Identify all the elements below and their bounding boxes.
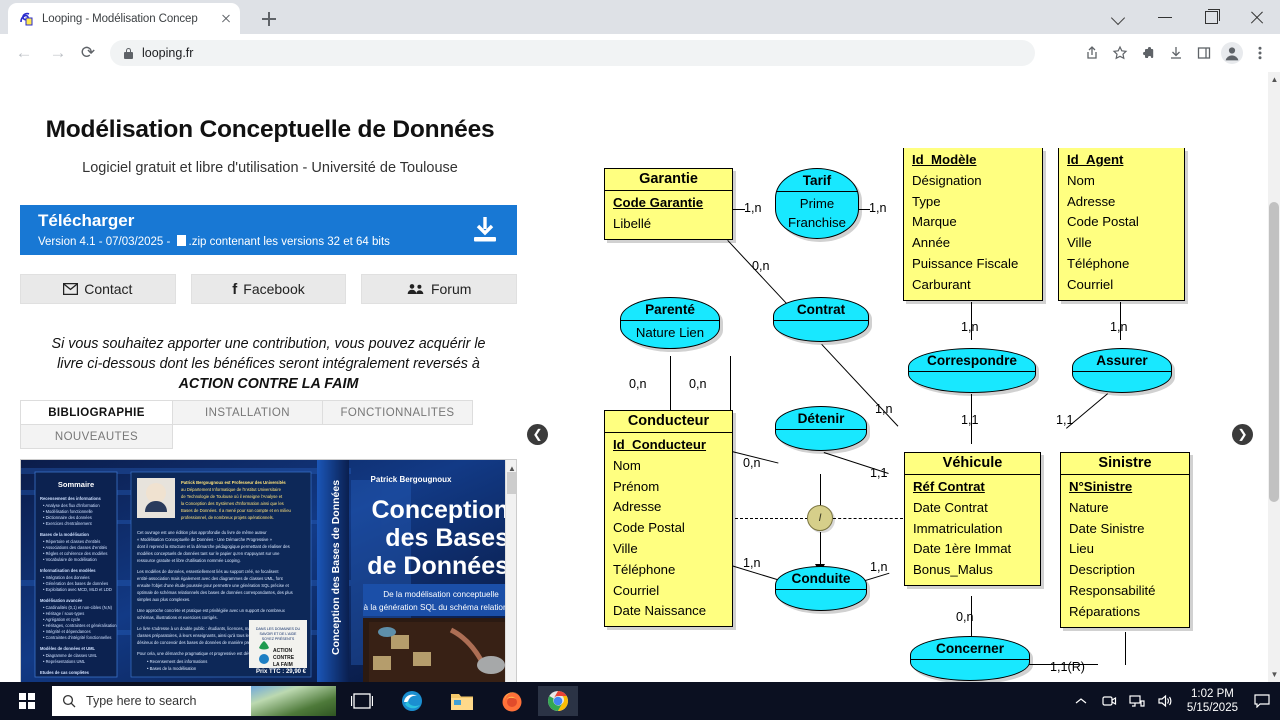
entity-conducteur-attributes: Id_Conducteur Nom Prénom Adresse Code Po… (605, 433, 732, 626)
extensions-puzzle-icon[interactable] (1134, 40, 1162, 66)
chrome-icon[interactable] (538, 686, 578, 716)
contribution-text: Si vous souhaitez apporter une contribut… (20, 334, 517, 394)
contact-button-label: Contact (84, 281, 132, 297)
tab-nouveautes[interactable]: NOUVEAUTES (20, 424, 173, 449)
forward-button[interactable]: → (46, 41, 70, 65)
attribute: Code Postal (613, 518, 724, 539)
association-contrat[interactable]: Contrat (773, 297, 869, 342)
entity-sinistre-attributes: N°Sinistre Nature Date Sinistre Lieu Des… (1061, 475, 1189, 627)
firefox-icon[interactable] (492, 686, 532, 716)
svg-text:Bases de Données. Il a mené po: Bases de Données. Il a mené pour son com… (181, 508, 292, 513)
association-detenir-title: Détenir (776, 407, 866, 430)
attribute: Date Contrat (913, 498, 1032, 519)
attribute: Date Naissance (613, 601, 724, 622)
svg-text:• Modélisation fonctionnelle: • Modélisation fonctionnelle (43, 509, 93, 514)
download-details-post: .zip contenant les versions 32 et 64 bit… (189, 236, 390, 248)
attribute: Téléphone (1067, 254, 1176, 275)
svg-text:Modèles de données et UML: Modèles de données et UML (40, 646, 96, 651)
association-parente[interactable]: Parenté Nature Lien (620, 297, 720, 349)
association-correspondre-attributes (909, 372, 1035, 392)
svg-text:DANS LES DOMAINES DU: DANS LES DOMAINES DU (256, 627, 301, 631)
association-assurer-title: Assurer (1073, 349, 1171, 372)
svg-text:• Agrégation et cycle: • Agrégation et cycle (43, 617, 81, 622)
entity-garantie-attributes: Code Garantie Libellé (605, 191, 732, 239)
profile-avatar-icon[interactable] (1218, 40, 1246, 66)
association-correspondre-title: Correspondre (909, 349, 1035, 372)
association-concerner-attributes (911, 660, 1029, 680)
side-panel-icon[interactable] (1190, 40, 1218, 66)
address-bar[interactable]: looping.fr (110, 40, 1035, 66)
association-detenir-attributes (776, 430, 866, 450)
cardinality-conducteur-detenir: 0,n (743, 456, 761, 470)
search-icon (62, 694, 76, 708)
svg-text:la Conception des Systèmes d'I: la Conception des Systèmes d'Information… (181, 501, 284, 506)
association-parente-title: Parenté (621, 298, 719, 321)
svg-text:De la modélisation conceptuell: De la modélisation conceptuelle (383, 590, 499, 599)
attribute: Réparations (1069, 602, 1181, 623)
svg-text:• Intégration des données: • Intégration des données (43, 575, 90, 580)
svg-text:simples aux plus complexes.: simples aux plus complexes. (137, 597, 190, 602)
download-banner[interactable]: Télécharger Version 4.1 - 07/03/2025 - .… (20, 205, 517, 255)
association-conduite[interactable]: Conduite (775, 566, 867, 611)
browser-tab[interactable]: Looping - Modélisation Concep (8, 3, 240, 34)
browser-toolbar: ← → ⟳ looping.fr (0, 34, 1280, 72)
svg-text:Conception: Conception (372, 496, 510, 524)
attribute: Libellé (613, 214, 724, 235)
svg-text:• Génération des bases de donn: • Génération des bases de données (43, 581, 108, 586)
svg-text:LA FAIM: LA FAIM (273, 662, 293, 668)
svg-text:professionnel, de nombreux pro: professionnel, de nombreux projets opéra… (181, 515, 274, 520)
site-logo: o i o (0, 72, 540, 112)
facebook-button[interactable]: f Facebook (191, 274, 347, 304)
attribute: Marque (912, 212, 1034, 233)
attribute: Type (912, 192, 1034, 213)
entity-vehicule-title: Véhicule (905, 453, 1040, 475)
association-detenir[interactable]: Détenir (775, 406, 867, 451)
svg-text:• Exercices d'entraînement: • Exercices d'entraînement (43, 521, 92, 526)
cardinality-detenir-vehicule: 1,1 (870, 466, 888, 480)
association-contrat-attributes (774, 321, 868, 341)
inheritance-dashed-right (833, 518, 903, 519)
entity-sinistre[interactable]: Sinistre N°Sinistre Nature Date Sinistre… (1060, 452, 1190, 628)
svg-text:Etudes de cas complètes: Etudes de cas complètes (40, 670, 90, 675)
cardinality-tarif-modele: 1,n (869, 201, 887, 215)
entity-sinistre-title: Sinistre (1061, 453, 1189, 475)
cardinality-concerner-sinistre: 1,1(R) (1050, 660, 1085, 674)
attribute: Courriel (613, 581, 724, 602)
entity-modele[interactable]: Id_Modèle Désignation Type Marque Année … (903, 148, 1043, 301)
svg-text:• Contraintes d'intégrité fonc: • Contraintes d'intégrité fonctionnelles (43, 635, 111, 640)
svg-text:SOYEZ PRÉSENTS: SOYEZ PRÉSENTS (262, 636, 295, 641)
attribute-key: Id_Agent (1067, 150, 1176, 171)
social-button-row: Contact f Facebook Forum (20, 274, 517, 304)
download-details: Version 4.1 - 07/03/2025 - .zip contenan… (38, 235, 390, 248)
page-scrollbar-thumb[interactable] (1269, 202, 1279, 502)
inheritance-symbol: I (807, 505, 833, 531)
search-illustration (251, 686, 336, 716)
page-content: o i o Modélisation Conceptuelle de Donné… (0, 72, 1280, 682)
browser-chrome: Looping - Modélisation Concep ← → ⟳ loop… (0, 0, 1280, 72)
attribute: Ville (613, 539, 724, 560)
attribute-key: Id_Conducteur (613, 435, 724, 456)
maximize-icon[interactable] (1188, 0, 1234, 34)
attribute: Code Postal (1067, 212, 1176, 233)
svg-text:• Exploitation avec MCD, MLD e: • Exploitation avec MCD, MLD et LDD (43, 587, 112, 592)
tab-title: Looping - Modélisation Concep (42, 13, 218, 25)
cardinality-agent-assurer: 1,n (1110, 320, 1128, 334)
entity-garantie-title: Garantie (605, 169, 732, 191)
cardinality-correspondre-vehicule: 1,1 (961, 413, 979, 427)
reload-button[interactable]: ⟳ (76, 41, 100, 65)
entity-modele-attributes: Id_Modèle Désignation Type Marque Année … (904, 148, 1042, 300)
svg-text:schémas, illustrations et exer: schémas, illustrations et exercices corr… (137, 615, 218, 620)
chrome-menu-icon[interactable] (1246, 40, 1274, 66)
attribute: Carburant (912, 275, 1034, 296)
svg-text:optimale de schémas relationne: optimale de schémas relationnels des bas… (137, 590, 293, 595)
edge-icon[interactable] (392, 686, 432, 716)
attribute: Nom (1067, 171, 1176, 192)
download-label: Télécharger (38, 211, 134, 231)
page-scrollbar[interactable]: ▲ ▼ (1268, 72, 1280, 682)
svg-text:CONTRE: CONTRE (273, 655, 295, 661)
svg-text:• Vocabulaire de modélisation: • Vocabulaire de modélisation (43, 557, 97, 562)
bookmark-star-icon[interactable] (1106, 40, 1134, 66)
contribution-charity: ACTION CONTRE LA FAIM (20, 374, 517, 394)
toolbar-icons (1078, 40, 1274, 66)
browser-titlebar: Looping - Modélisation Concep (0, 0, 1280, 34)
forum-button[interactable]: Forum (361, 274, 517, 304)
attribute-key: Code Garantie (613, 193, 724, 214)
back-arrow-icon: ← (12, 41, 36, 65)
svg-text:• Associations des classes d'e: • Associations des classes d'entités (43, 545, 107, 550)
cardinality-assurer-vehicule: 1,1 (1056, 413, 1074, 427)
association-conduite-title: Conduite (776, 567, 866, 590)
forum-button-label: Forum (431, 281, 471, 297)
cardinality-contrat-vehicule: 1,n (875, 402, 893, 416)
address-bar-url: looping.fr (142, 46, 193, 60)
association-assurer-attributes (1073, 372, 1171, 392)
contribution-line-1: Si vous souhaitez apporter une contribut… (20, 334, 517, 354)
facebook-button-label: Facebook (243, 281, 304, 297)
cardinality-parente-conducteur-b: 0,n (689, 377, 707, 391)
facebook-f-icon: f (232, 281, 237, 298)
carousel-prev-button[interactable]: ❮ (527, 424, 548, 445)
association-contrat-title: Contrat (774, 298, 868, 321)
association-parente-attributes: Nature Lien (621, 321, 719, 348)
attribute: Description (1069, 560, 1181, 581)
attribute: Prime (782, 194, 852, 213)
svg-text:des Bases: des Bases (385, 524, 509, 552)
svg-text:• Bases de la modélisation: • Bases de la modélisation (147, 666, 197, 671)
svg-text:entité-association mais égalem: entité-association mais également avec d… (137, 576, 284, 581)
clock-date: 5/15/2025 (1187, 701, 1238, 715)
svg-text:Prix TTC : 29,90 €: Prix TTC : 29,90 € (256, 669, 307, 675)
windows-taskbar: Type here to search (0, 682, 1280, 720)
svg-text:de Données: de Données (367, 552, 509, 580)
download-icon (469, 215, 501, 245)
contribution-line-2: livre ci-dessous dont les bénéfices sero… (20, 354, 517, 374)
page-subtitle: Logiciel gratuit et libre d'utilisation … (0, 160, 540, 176)
entity-conducteur-title: Conducteur (605, 411, 732, 433)
svg-text:• Analyse des flux d'informati: • Analyse des flux d'information (43, 503, 100, 508)
svg-text:de Technologie de Toulouse où: de Technologie de Toulouse où il enseign… (181, 494, 283, 499)
camera-recording-icon[interactable] (1095, 682, 1123, 720)
cardinality-garantie-tarif: 1,n (744, 201, 762, 215)
svg-text:• Règles et cohérence des modè: • Règles et cohérence des modèles (43, 551, 107, 556)
attribute-key: Réf Contrat (913, 477, 1032, 498)
entity-garantie[interactable]: Garantie Code Garantie Libellé (604, 168, 733, 240)
svg-text:• Dictionnaire des données: • Dictionnaire des données (43, 515, 92, 520)
attribute: Date 1ère Immat (913, 539, 1032, 560)
task-view-icon[interactable] (342, 686, 382, 716)
cardinality-conducteur-conduite: 1,n (743, 556, 761, 570)
attribute: Nature Lien (627, 323, 713, 342)
contact-button[interactable]: Contact (20, 274, 176, 304)
close-window-icon[interactable] (1234, 0, 1280, 34)
content-tabs: BIBLIOGRAPHIE INSTALLATION FONCTIONNALIT… (20, 400, 517, 449)
search-input[interactable]: Type here to search (52, 686, 336, 716)
reload-icon: ⟳ (76, 41, 100, 65)
association-concerner[interactable]: Concerner (910, 636, 1030, 681)
svg-text:à la génération SQL du schéma: à la génération SQL du schéma relationne… (364, 603, 517, 612)
close-icon[interactable] (218, 11, 234, 27)
attribute: Nom (613, 456, 724, 477)
svg-text:Recensement des informations: Recensement des informations (40, 496, 101, 501)
lock-icon (124, 48, 133, 59)
scroll-up-icon[interactable]: ▲ (1271, 75, 1279, 84)
notifications-icon[interactable] (1246, 682, 1280, 720)
new-tab-button[interactable] (255, 7, 283, 31)
tab-bibliographie[interactable]: BIBLIOGRAPHIE (20, 400, 173, 425)
association-concerner-title: Concerner (911, 637, 1029, 660)
download-details-pre: Version 4.1 - 07/03/2025 - (38, 236, 174, 248)
svg-text:Patrick Bergougnoux: Patrick Bergougnoux (371, 475, 452, 484)
page-title: Modélisation Conceptuelle de Données (0, 116, 540, 144)
association-tarif-attributes: Prime Franchise (776, 192, 858, 238)
minimize-icon[interactable] (1142, 0, 1188, 34)
people-group-icon (407, 283, 425, 295)
svg-text:Sommaire: Sommaire (58, 480, 94, 489)
show-hidden-icons-icon[interactable] (1067, 682, 1095, 720)
tab-installation[interactable]: INSTALLATION (172, 400, 323, 425)
forward-arrow-icon: → (46, 41, 70, 65)
attribute: Bonus_Malus (913, 560, 1032, 581)
network-icon[interactable] (1123, 682, 1151, 720)
association-assurer[interactable]: Assurer (1072, 348, 1172, 393)
volume-icon[interactable] (1151, 682, 1179, 720)
system-tray: 1:02 PM 5/15/2025 (1067, 682, 1280, 720)
attribute: Responsabilité (1069, 581, 1181, 602)
connector-sinistre-down (1125, 632, 1126, 665)
svg-text:Conception des Bases de Donnée: Conception des Bases de Données (330, 480, 342, 655)
svg-text:Informatisation des modèles: Informatisation des modèles (40, 568, 96, 573)
mcd-diagram: I Garantie Code Garantie Libellé Id_Modè… (560, 72, 1270, 682)
attribute: Franchise (782, 213, 852, 232)
cardinality-conduite-vehicule: 1,n (870, 560, 888, 574)
windows-start-icon[interactable] (8, 687, 46, 715)
attribute: Désignation (912, 171, 1034, 192)
attribute: Prénom (613, 477, 724, 498)
svg-text:Modélisation avancée: Modélisation avancée (40, 598, 83, 603)
svg-text:ACTION: ACTION (273, 648, 293, 654)
attribute: Courriel (1067, 275, 1176, 296)
attribute: Puissance Fiscale (912, 254, 1034, 275)
entity-agent[interactable]: Id_Agent Nom Adresse Code Postal Ville T… (1058, 148, 1185, 301)
svg-text:• Recensement des informations: • Recensement des informations (147, 659, 207, 664)
association-conduite-attributes (776, 590, 866, 610)
svg-text:• Cardinalités (0,1) et non-ci: • Cardinalités (0,1) et non-cibles (N,N) (43, 605, 113, 610)
attribute-key: Id_Modèle (912, 150, 1034, 171)
svg-text:Patrick Bergougnoux est Profes: Patrick Bergougnoux est Professeur des U… (181, 480, 286, 485)
association-tarif[interactable]: Tarif Prime Franchise (775, 168, 859, 239)
chevron-down-icon[interactable] (1096, 0, 1142, 34)
svg-text:SAVOIR ET DE L'AIDE: SAVOIR ET DE L'AIDE (260, 632, 298, 636)
book-carousel[interactable]: Sommaire Recensement des informations • … (20, 459, 517, 682)
entity-agent-attributes: Id_Agent Nom Adresse Code Postal Ville T… (1059, 148, 1184, 300)
svg-text:• Diagramme de classes UML: • Diagramme de classes UML (43, 653, 98, 658)
cardinality-vehicule-concerner: 0,n (956, 610, 974, 624)
svg-text:ressource gratuite et libre d': ressource gratuite et libre d'utilisatio… (137, 558, 241, 563)
cardinality-parente-conducteur-a: 0,n (629, 377, 647, 391)
svg-text:ensuite l'objet d'une étude po: ensuite l'objet d'une étude poussée pour… (137, 583, 290, 588)
zip-file-icon (177, 235, 186, 246)
svg-text:• Intégrité et dépendances: • Intégrité et dépendances (43, 629, 91, 634)
attribute-key: N°Sinistre (1069, 477, 1181, 498)
clock-time: 1:02 PM (1187, 687, 1238, 701)
svg-text:Bases de la modélisation: Bases de la modélisation (40, 532, 89, 537)
association-correspondre[interactable]: Correspondre (908, 348, 1036, 393)
attribute: Date Sinistre (1069, 519, 1181, 540)
envelope-icon (63, 283, 78, 295)
svg-text:au Département Informatique de: au Département Informatique de l'Institu… (181, 487, 282, 492)
entity-vehicule[interactable]: Véhicule Réf Contrat Date Contrat Immatr… (904, 452, 1041, 586)
attribute: Téléphone (613, 560, 724, 581)
attribute: Immatriculation (913, 519, 1032, 540)
back-button[interactable]: ← (12, 41, 36, 65)
book-cover-image: Sommaire Recensement des informations • … (21, 460, 517, 682)
svg-text:• Héritage / sous-types: • Héritage / sous-types (43, 611, 84, 616)
book-scrollbar-thumb[interactable] (507, 472, 516, 494)
attribute: Adresse (613, 497, 724, 518)
svg-text:modèles conceptuels de données: modèles conceptuels de données tant sur … (137, 551, 280, 556)
attribute: Lieu (1069, 539, 1181, 560)
svg-text:Une approche concrète et prati: Une approche concrète et pratique est pr… (137, 608, 286, 613)
svg-text:Cet ouvrage est une édition pl: Cet ouvrage est une édition plus approfo… (137, 530, 267, 535)
content-tabstrip: BIBLIOGRAPHIE INSTALLATION FONCTIONNALIT… (20, 400, 517, 449)
site-left-column: o i o Modélisation Conceptuelle de Donné… (0, 72, 540, 682)
svg-text:• Héritages, contraintes et gé: • Héritages, contraintes et généralisati… (43, 623, 117, 628)
svg-text:Les modèles de données, essent: Les modèles de données, essentiellement … (137, 569, 279, 574)
svg-text:• Représentations UML: • Représentations UML (43, 659, 86, 664)
cardinality-garantie-contrat: 0,n (752, 259, 770, 273)
attribute: Nature (1069, 498, 1181, 519)
scroll-down-icon[interactable]: ▼ (1271, 670, 1279, 679)
entity-conducteur[interactable]: Conducteur Id_Conducteur Nom Prénom Adre… (604, 410, 733, 627)
tab-fonctionnalites[interactable]: FONCTIONNALITES (322, 400, 473, 425)
attribute: Ville (1067, 233, 1176, 254)
looping-favicon-icon (18, 11, 34, 27)
svg-text:dont il reprend la structure e: dont il reprend la structure et la démar… (137, 544, 290, 549)
share-icon[interactable] (1078, 40, 1106, 66)
attribute: Adresse (1067, 192, 1176, 213)
association-tarif-title: Tarif (776, 169, 858, 192)
downloads-icon[interactable] (1162, 40, 1190, 66)
entity-vehicule-attributes: Réf Contrat Date Contrat Immatriculation… (905, 475, 1040, 585)
taskbar-clock[interactable]: 1:02 PM 5/15/2025 (1179, 687, 1246, 715)
file-explorer-icon[interactable] (442, 686, 482, 716)
svg-text:• Répertoire et classes d'enti: • Répertoire et classes d'entités (43, 539, 100, 544)
search-placeholder: Type here to search (86, 694, 196, 708)
book-scrollbar[interactable]: ▲ (505, 460, 516, 682)
svg-text:« Modélisation Conceptuelle de: « Modélisation Conceptuelle de Données -… (137, 537, 273, 542)
cardinality-modele-correspondre: 1,n (961, 320, 979, 334)
attribute: Année (912, 233, 1034, 254)
window-controls (1096, 0, 1280, 34)
